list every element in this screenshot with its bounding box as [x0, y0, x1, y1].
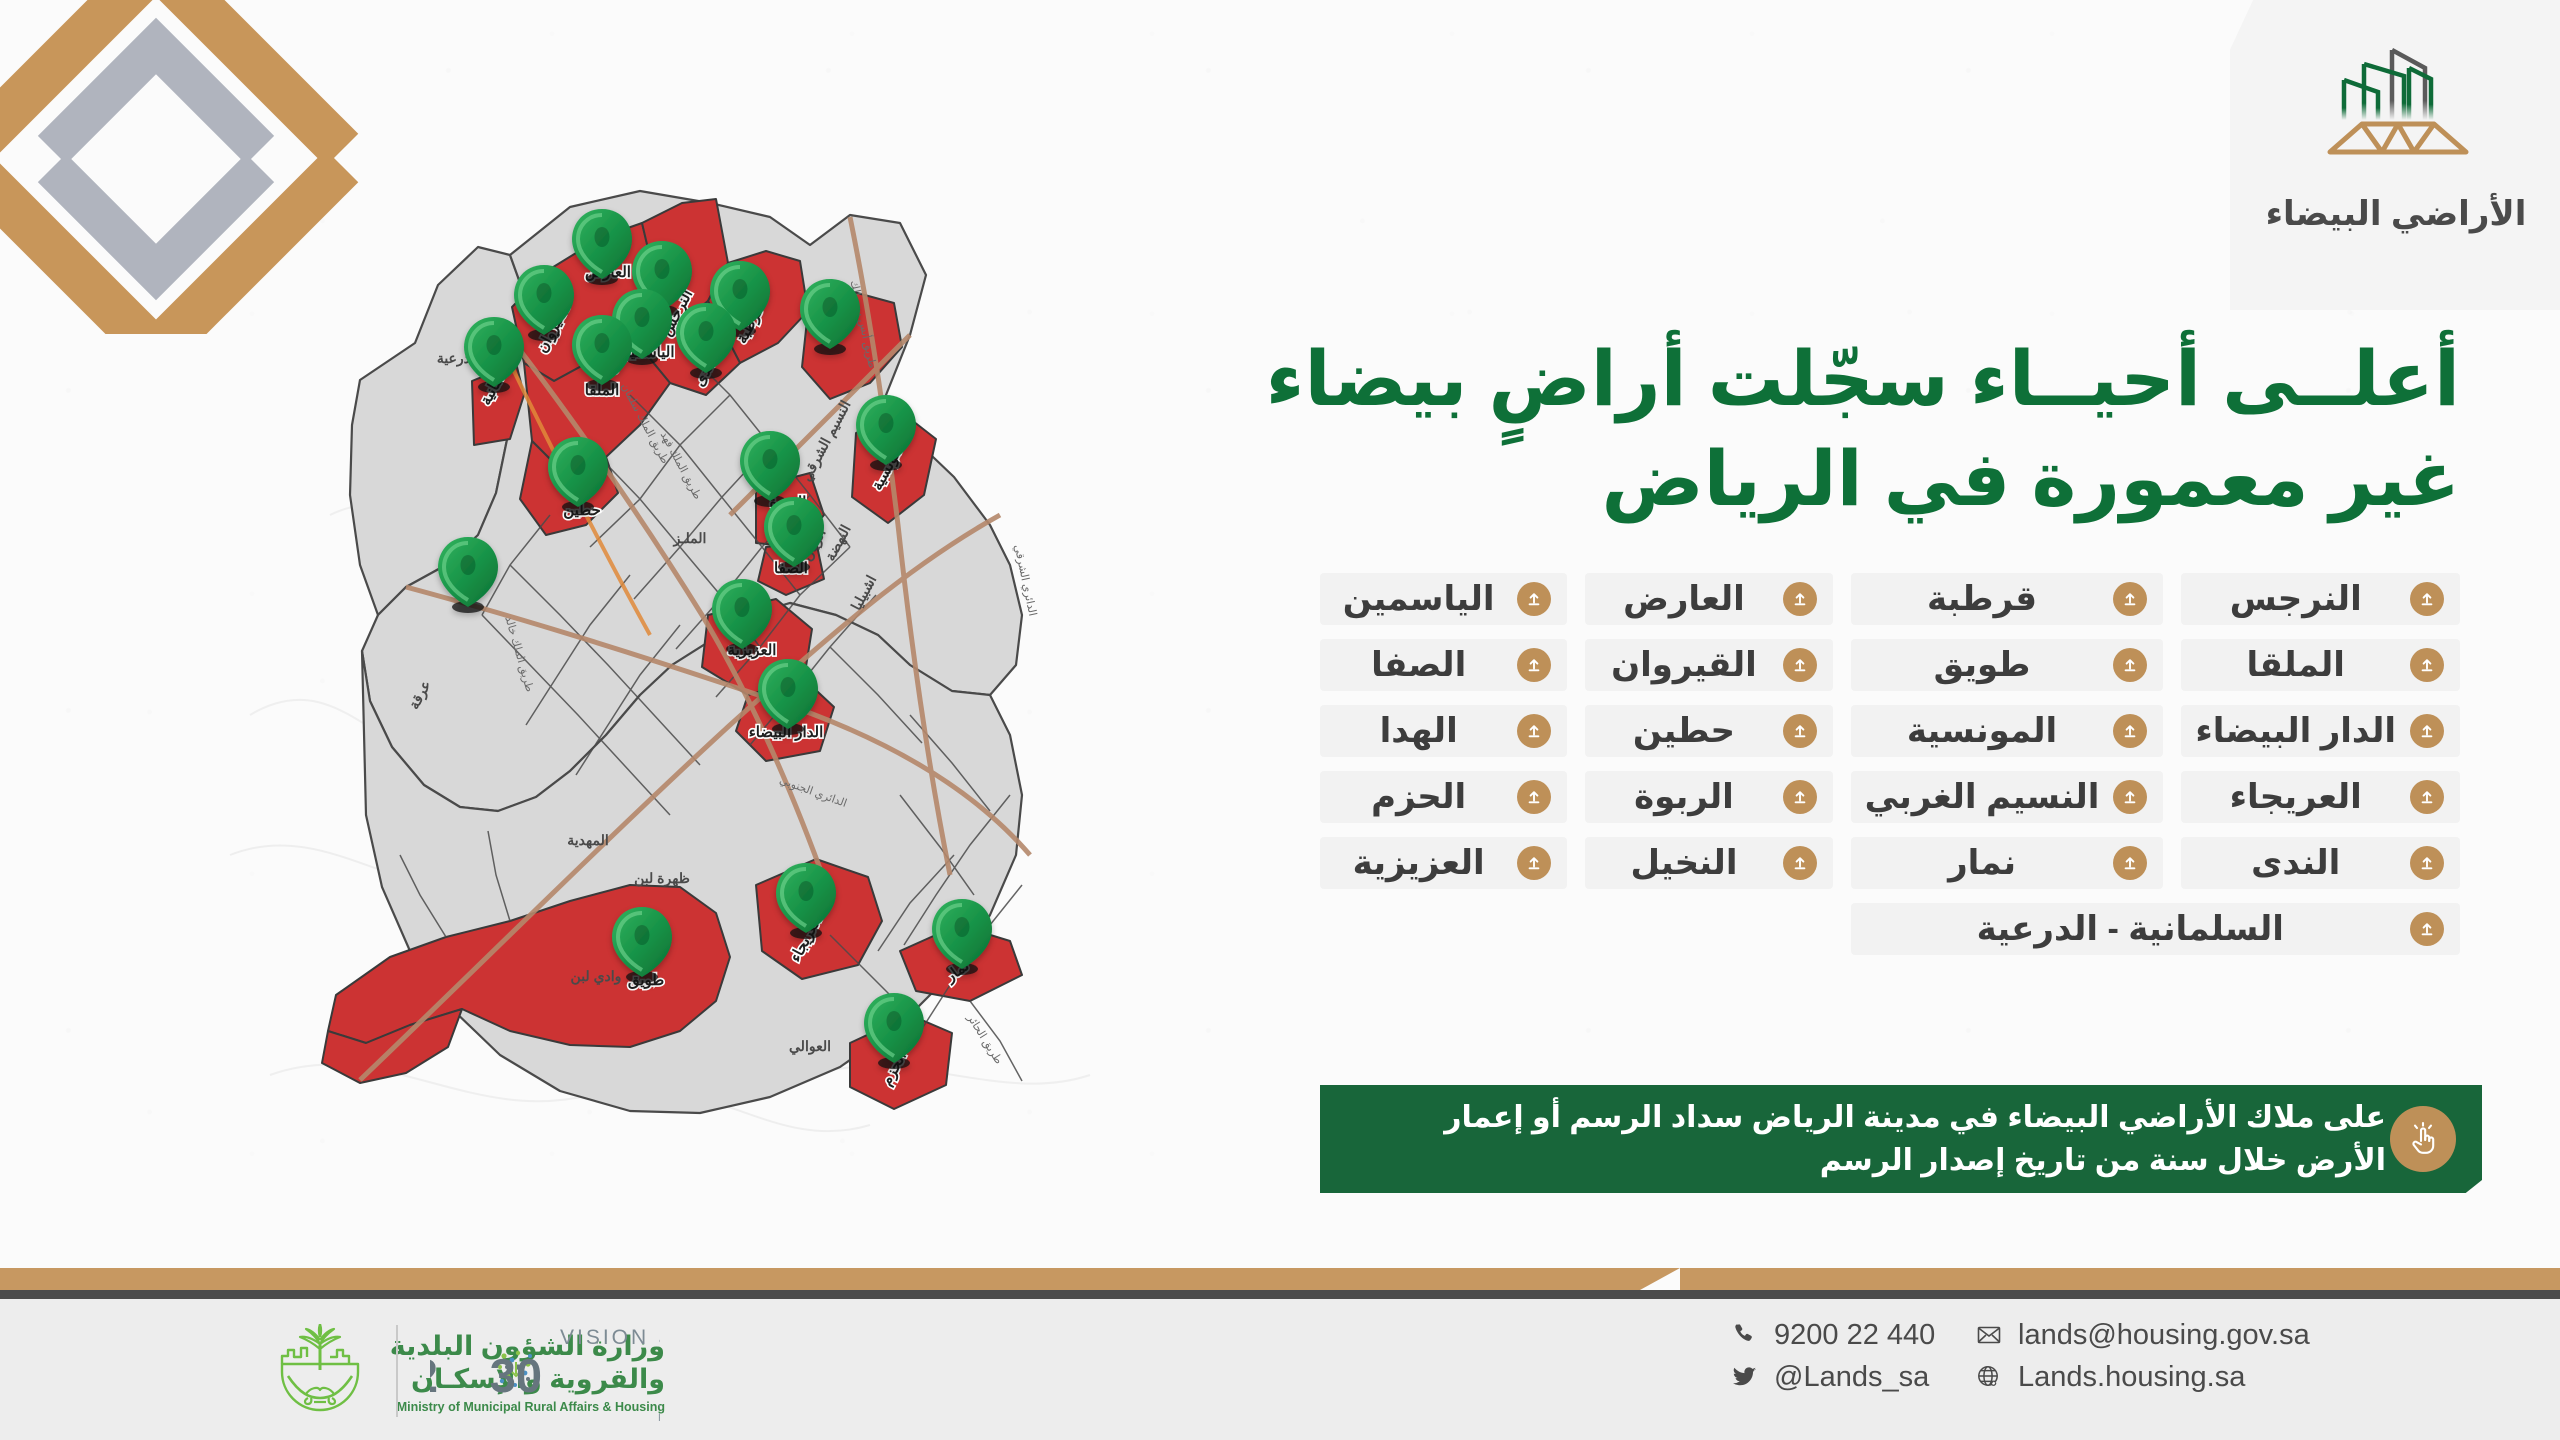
upload-arrow-icon — [2410, 846, 2444, 880]
upload-arrow-icon — [1783, 846, 1817, 880]
contact-item[interactable]: 9200 22 440 — [1730, 1320, 1930, 1350]
district-chip[interactable]: حطين — [1585, 705, 1832, 757]
svg-text:رؤيـــة: رؤيـــة — [658, 1324, 660, 1350]
saudi-municipal-emblem-icon — [266, 1324, 374, 1420]
district-chip[interactable]: النخيل — [1585, 837, 1832, 889]
district-label: السلمانية - الدرعية — [1865, 912, 2396, 946]
notice-banner: على ملاك الأراضي البيضاء في مدينة الرياض… — [1320, 1085, 2482, 1193]
infographic-root: الأراضي البيضاء — [0, 0, 2560, 1440]
upload-arrow-icon — [2113, 582, 2147, 616]
svg-text:VISION: VISION — [560, 1326, 649, 1349]
district-label: النسيم الغربي — [1865, 780, 2100, 814]
district-chip[interactable]: الندى — [2181, 837, 2460, 889]
district-label: العريجاء — [2195, 780, 2396, 814]
district-chip[interactable]: النسيم الغربي — [1851, 771, 2164, 823]
upload-arrow-icon — [2410, 714, 2444, 748]
district-label: الندى — [2195, 846, 2396, 880]
upload-arrow-icon — [2410, 648, 2444, 682]
contact-value: 9200 22 440 — [1774, 1321, 1935, 1350]
district-label: حطين — [1599, 714, 1768, 748]
district-chip[interactable]: الحزم — [1320, 771, 1567, 823]
buildings-on-land-icon — [2286, 24, 2506, 192]
district-label: الربوة — [1599, 780, 1768, 814]
district-label: الحزم — [1334, 780, 1503, 814]
pointing-hand-click-icon — [2390, 1106, 2456, 1172]
globe-icon — [1974, 1362, 2004, 1392]
svg-text:ظهرة لبن: ظهرة لبن — [634, 870, 690, 887]
svg-text:2: 2 — [430, 1349, 438, 1402]
district-label: الصفا — [1334, 648, 1503, 682]
dark-divider-line — [0, 1290, 2560, 1299]
district-chip[interactable]: العزيزية — [1320, 837, 1567, 889]
upload-arrow-icon — [1783, 648, 1817, 682]
district-chip[interactable]: قرطبة — [1851, 573, 2164, 625]
phone-icon — [1730, 1320, 1760, 1350]
notice-line-1: على ملاك الأراضي البيضاء في مدينة الرياض… — [1354, 1096, 2386, 1140]
headline-line-1: أعلــى أحيــاء سجّلت أراضٍ بيضاء — [1266, 337, 2460, 422]
upload-arrow-icon — [2113, 648, 2147, 682]
notice-text: على ملاك الأراضي البيضاء في مدينة الرياض… — [1354, 1096, 2386, 1183]
district-label: العزيزية — [1334, 846, 1503, 880]
district-chip[interactable]: الهدا — [1320, 705, 1567, 757]
district-chip[interactable]: الربوة — [1585, 771, 1832, 823]
footer-divider — [396, 1325, 398, 1417]
district-chip[interactable]: النرجس — [2181, 573, 2460, 625]
district-list: النرجسقرطبةالعارضالياسمينالملقاطويقالقير… — [1320, 573, 2460, 955]
contact-value: Lands.housing.sa — [2018, 1363, 2245, 1392]
page-title: أعلــى أحيــاء سجّلت أراضٍ بيضاء غير معم… — [1320, 330, 2460, 531]
contact-item[interactable]: Lands.housing.sa — [1974, 1362, 2510, 1392]
district-chip[interactable]: طويق — [1851, 639, 2164, 691]
brand-logo-text: الأراضي البيضاء — [2266, 194, 2527, 234]
upload-arrow-icon — [2113, 714, 2147, 748]
svg-text:المهدية: المهدية — [567, 832, 608, 849]
upload-arrow-icon — [1783, 582, 1817, 616]
riyadh-districts-map: العارض القيروان النرجس الياسمين قرطبة ال… — [120, 95, 1300, 1205]
upload-arrow-icon — [1517, 582, 1551, 616]
upload-arrow-icon — [2410, 780, 2444, 814]
upload-arrow-icon — [1517, 846, 1551, 880]
contact-info: 9200 22 440lands@housing.gov.sa@Lands_sa… — [1730, 1320, 2510, 1392]
upload-arrow-icon — [1783, 780, 1817, 814]
district-chip[interactable]: الملقا — [2181, 639, 2460, 691]
district-label: الياسمين — [1334, 582, 1503, 616]
district-label: النرجس — [2195, 582, 2396, 616]
upload-arrow-icon — [2410, 912, 2444, 946]
brand-logo-plate: الأراضي البيضاء — [2230, 0, 2560, 310]
upload-arrow-icon — [2113, 780, 2147, 814]
svg-text:KINGDOM OF SAUDI ARABIA: KINGDOM OF SAUDI ARABIA — [658, 1412, 660, 1424]
district-chip[interactable]: الصفا — [1320, 639, 1567, 691]
upload-arrow-icon — [1517, 714, 1551, 748]
notice-line-2: الأرض خلال سنة من تاريخ إصدار الرسم — [1354, 1139, 2386, 1183]
svg-text:المملكة العربية السعودية: المملكة العربية السعودية — [658, 1395, 660, 1412]
upload-arrow-icon — [1517, 780, 1551, 814]
district-label: القيروان — [1599, 648, 1768, 682]
district-label: النخيل — [1599, 846, 1768, 880]
content-column: أعلــى أحيــاء سجّلت أراضٍ بيضاء غير معم… — [1320, 330, 2460, 955]
district-chip[interactable]: المونسية — [1851, 705, 2164, 757]
email-icon — [1974, 1320, 2004, 1350]
headline-line-2: غير معمورة في الرياض — [1320, 430, 2460, 530]
upload-arrow-icon — [2113, 846, 2147, 880]
upload-arrow-icon — [2410, 582, 2444, 616]
district-label: المونسية — [1865, 714, 2100, 748]
svg-text:الملـز: الملـز — [673, 530, 707, 547]
twitter-icon — [1730, 1362, 1760, 1392]
district-chip[interactable]: العارض — [1585, 573, 1832, 625]
district-label: الملقا — [2195, 648, 2396, 682]
district-label: الدار البيضاء — [2195, 714, 2396, 748]
district-chip[interactable]: القيروان — [1585, 639, 1832, 691]
gold-divider-bar — [0, 1268, 2560, 1290]
svg-text:30: 30 — [490, 1349, 542, 1402]
district-chip[interactable]: الياسمين — [1320, 573, 1567, 625]
district-chip[interactable]: نمار — [1851, 837, 2164, 889]
vision-2030-icon: رؤيـــة VISION 2 — [430, 1320, 660, 1424]
svg-text:وادي لبن: وادي لبن — [571, 968, 622, 985]
contact-value: lands@housing.gov.sa — [2018, 1321, 2310, 1350]
svg-text:العوالي: العوالي — [789, 1038, 831, 1055]
contact-value: @Lands_sa — [1774, 1363, 1929, 1392]
district-label: طويق — [1865, 648, 2100, 682]
upload-arrow-icon — [1517, 648, 1551, 682]
district-label: قرطبة — [1865, 582, 2100, 616]
district-chip[interactable]: السلمانية - الدرعية — [1851, 903, 2460, 955]
contact-item[interactable]: lands@housing.gov.sa — [1974, 1320, 2510, 1350]
contact-item[interactable]: @Lands_sa — [1730, 1362, 1930, 1392]
district-chip[interactable]: الدار البيضاء — [2181, 705, 2460, 757]
district-chip[interactable]: العريجاء — [2181, 771, 2460, 823]
district-label: نمار — [1865, 846, 2100, 880]
district-label: العارض — [1599, 582, 1768, 616]
district-label: الهدا — [1334, 714, 1503, 748]
upload-arrow-icon — [1783, 714, 1817, 748]
